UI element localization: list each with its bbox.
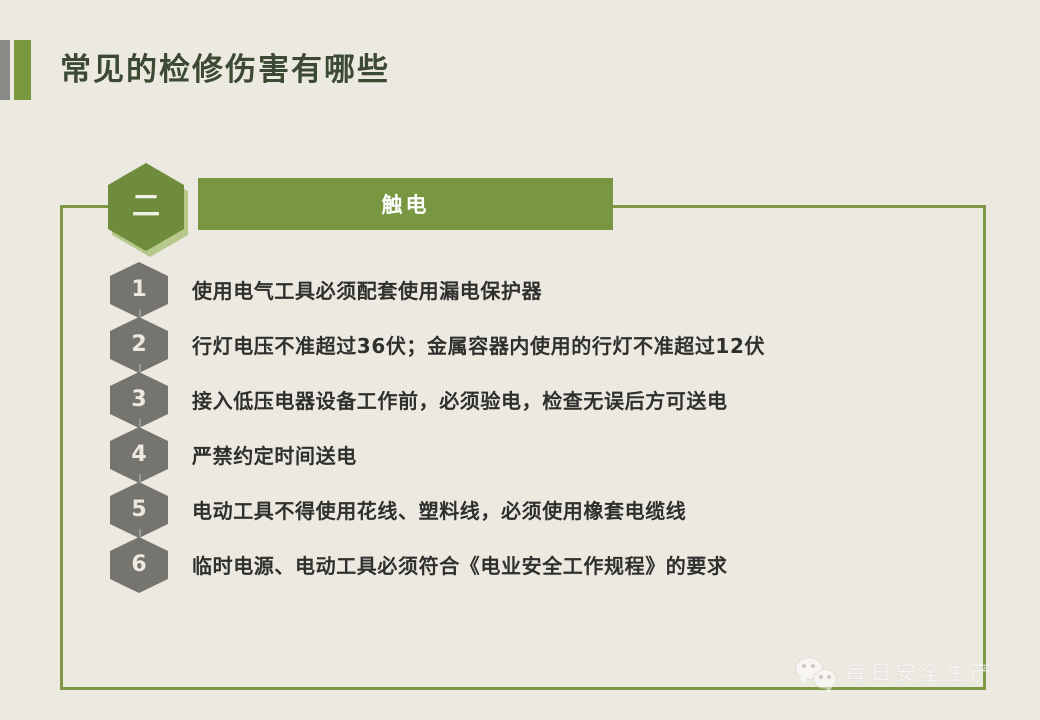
- slide-canvas: 常见的检修伤害有哪些 二 触电 1 使用电气工具必须配套使用漏电保护器 2 行灯…: [0, 0, 1040, 720]
- bullet-number: 2: [131, 334, 146, 356]
- watermark: 每日安全生产: [795, 652, 995, 692]
- bullet-list: 1 使用电气工具必须配套使用漏电保护器 2 行灯电压不准超过36伏；金属容器内使…: [110, 262, 950, 592]
- wechat-eye-dot: [802, 664, 806, 668]
- bullet-text: 使用电气工具必须配套使用漏电保护器: [192, 275, 542, 304]
- bullet-text: 严禁约定时间送电: [192, 440, 357, 469]
- list-item: 5 电动工具不得使用花线、塑料线，必须使用橡套电缆线: [110, 482, 950, 537]
- bullet-text: 行灯电压不准超过36伏；金属容器内使用的行灯不准超过12伏: [192, 330, 765, 359]
- frame-border-left: [60, 205, 63, 690]
- bullet-number: 4: [131, 444, 146, 466]
- wechat-bubble-small-shape: [813, 669, 837, 689]
- section-banner: 触电: [198, 178, 613, 230]
- bullet-number: 1: [131, 279, 146, 301]
- list-item: 1 使用电气工具必须配套使用漏电保护器: [110, 262, 950, 317]
- wechat-eye-dot: [819, 675, 823, 679]
- watermark-text: 每日安全生产: [845, 657, 995, 687]
- list-item: 2 行灯电压不准超过36伏；金属容器内使用的行灯不准超过12伏: [110, 317, 950, 372]
- wechat-icon: [795, 655, 837, 689]
- title-accent-bar-green: [14, 40, 31, 100]
- bullet-text: 电动工具不得使用花线、塑料线，必须使用橡套电缆线: [192, 495, 686, 524]
- title-accent-bar-gray: [0, 40, 10, 100]
- frame-border-right: [983, 205, 986, 690]
- frame-border-top-right: [611, 205, 986, 208]
- bullet-number: 6: [131, 554, 146, 576]
- list-item: 6 临时电源、电动工具必须符合《电业安全工作规程》的要求: [110, 537, 950, 592]
- section-number-label: 二: [132, 192, 160, 220]
- page-title: 常见的检修伤害有哪些: [60, 44, 390, 89]
- bullet-text: 接入低压电器设备工作前，必须验电，检查无误后方可送电: [192, 385, 728, 414]
- bullet-text: 临时电源、电动工具必须符合《电业安全工作规程》的要求: [192, 550, 728, 579]
- list-item: 4 严禁约定时间送电: [110, 427, 950, 482]
- bullet-hexagon-icon: 6: [110, 537, 168, 593]
- bullet-number: 3: [131, 389, 146, 411]
- wechat-eye-dot: [827, 675, 831, 679]
- list-item: 3 接入低压电器设备工作前，必须验电，检查无误后方可送电: [110, 372, 950, 427]
- section-number-badge: 二: [108, 163, 190, 257]
- bullet-number: 5: [131, 499, 146, 521]
- wechat-eye-dot: [811, 664, 815, 668]
- section-banner-title: 触电: [382, 189, 430, 219]
